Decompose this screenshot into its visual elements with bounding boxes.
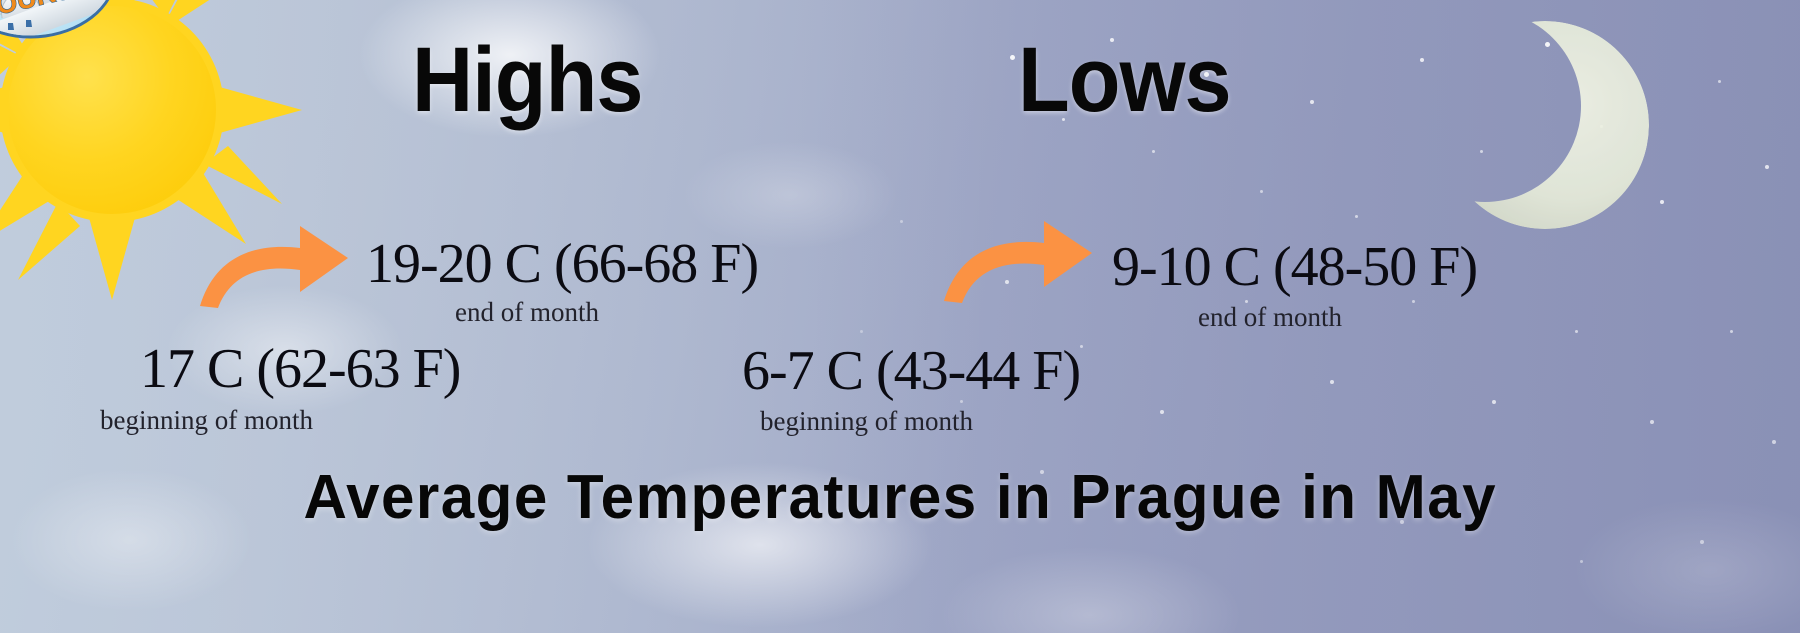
arrow-right-icon — [940, 205, 1100, 305]
star-icon — [1718, 80, 1721, 83]
star-icon — [1355, 215, 1358, 218]
star-icon — [1700, 540, 1704, 544]
footprint-icon — [0, 20, 32, 30]
star-icon — [1765, 165, 1769, 169]
temp-value-high-begin: 17 C (62-63 F) — [140, 337, 460, 401]
star-icon — [1730, 330, 1733, 333]
temp-value-low-end: 9-10 C (48-50 F) — [1112, 235, 1477, 299]
temp-value-low-begin: 6-7 C (43-44 F) — [742, 339, 1080, 403]
star-icon — [1010, 55, 1015, 60]
star-icon — [900, 220, 903, 223]
logo-text-tours: TOURS — [0, 0, 76, 24]
temp-period-high-begin: beginning of month — [100, 405, 313, 436]
logo-free-tours-by-foot[interactable]: FREE TOURS BY FOOT — [0, 0, 122, 36]
star-icon — [860, 330, 863, 333]
heading-highs: Highs — [412, 28, 643, 133]
arrow-right-icon — [196, 210, 356, 310]
star-icon — [1310, 100, 1314, 104]
star-icon — [1772, 440, 1776, 444]
cloud-shape — [880, 520, 1300, 633]
star-icon — [1575, 330, 1578, 333]
page-title: Average Temperatures in Prague in May — [0, 462, 1800, 533]
temp-period-low-end: end of month — [1198, 302, 1342, 333]
infographic-banner: FREE TOURS BY FOOT — [0, 0, 1800, 633]
page-title-text: Average Temperatures in Prague in May — [303, 462, 1497, 533]
temp-period-low-begin: beginning of month — [760, 406, 973, 437]
star-icon — [1492, 400, 1496, 404]
temp-period-high-end: end of month — [455, 297, 599, 328]
star-icon — [1152, 150, 1155, 153]
heading-lows: Lows — [1018, 28, 1231, 133]
star-icon — [1160, 410, 1164, 414]
moon-icon — [1433, 10, 1663, 240]
star-icon — [1580, 560, 1583, 563]
star-icon — [1650, 420, 1654, 424]
star-icon — [1260, 190, 1263, 193]
star-icon — [1080, 345, 1083, 348]
star-icon — [1412, 300, 1415, 303]
star-icon — [1330, 380, 1334, 384]
temp-value-high-end: 19-20 C (66-68 F) — [366, 232, 758, 296]
star-icon — [1420, 58, 1424, 62]
